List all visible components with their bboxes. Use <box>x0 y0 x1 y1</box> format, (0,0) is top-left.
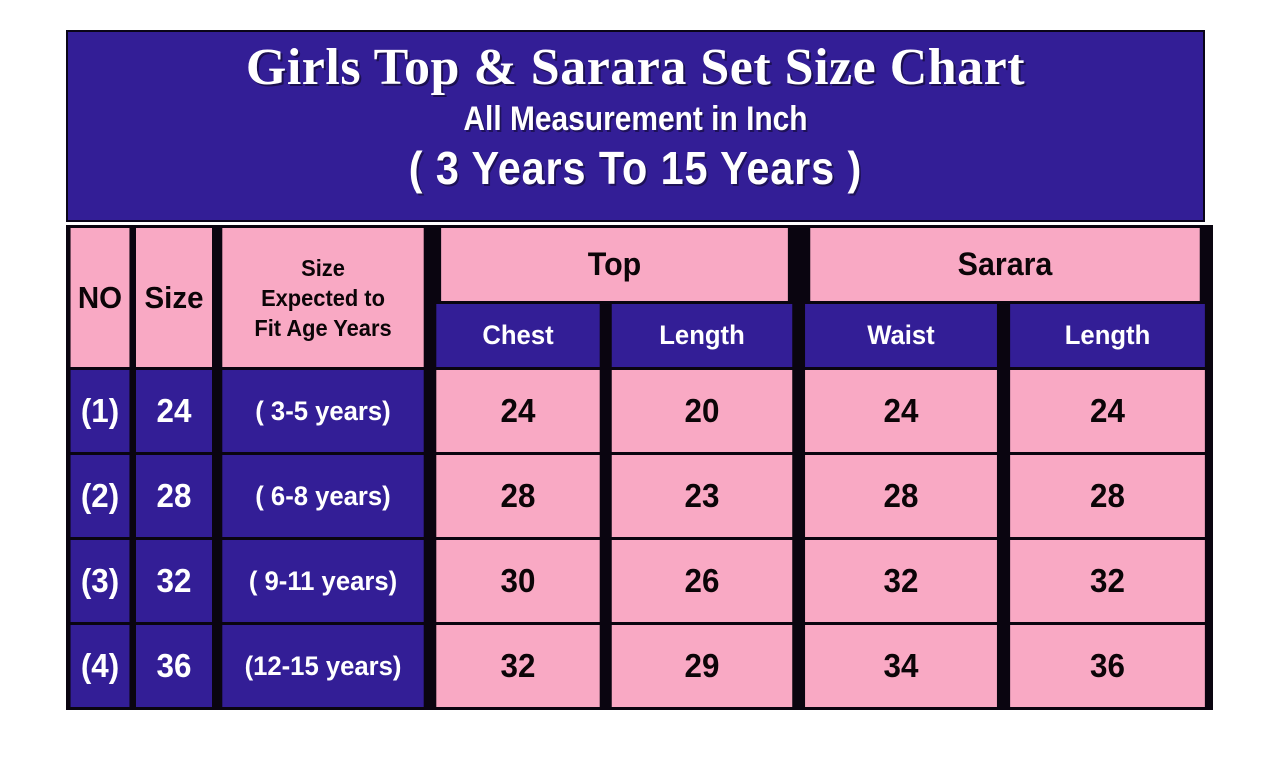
cell-age: ( 6-8 years) <box>222 455 423 537</box>
cell-size: 36 <box>136 625 212 707</box>
header-size: Size <box>136 228 212 367</box>
table-row: (3) 32 ( 9-11 years) 30 26 32 32 <box>69 540 1210 622</box>
cell-sarara-length: 28 <box>1010 455 1205 537</box>
header-age: Size Expected to Fit Age Years <box>222 228 423 367</box>
cell-top-chest: 30 <box>436 540 599 622</box>
cell-top-length: 26 <box>612 540 793 622</box>
header-no: NO <box>71 228 130 367</box>
table-head: NO Size Size Expected to Fit Age Years T… <box>69 228 1210 367</box>
table-row: (2) 28 ( 6-8 years) 28 23 28 28 <box>69 455 1210 537</box>
table-row: (4) 36 (12-15 years) 32 29 34 36 <box>69 625 1210 707</box>
cell-size: 32 <box>136 540 212 622</box>
cell-age: ( 3-5 years) <box>222 370 423 452</box>
header-top-chest: Chest <box>436 304 599 367</box>
cell-size: 24 <box>136 370 212 452</box>
chart-age-range: ( 3 Years To 15 Years ) <box>125 140 1147 196</box>
cell-top-length: 23 <box>612 455 793 537</box>
header-group-sarara: Sarara <box>810 228 1200 301</box>
size-table: NO Size Size Expected to Fit Age Years T… <box>66 225 1213 710</box>
table-header-group-row: NO Size Size Expected to Fit Age Years T… <box>69 228 1210 301</box>
cell-size: 28 <box>136 455 212 537</box>
cell-no: (1) <box>71 370 130 452</box>
header-top-length: Length <box>612 304 793 367</box>
size-chart: Girls Top & Sarara Set Size Chart All Me… <box>66 30 1205 717</box>
cell-sarara-waist: 34 <box>805 625 997 707</box>
cell-top-length: 29 <box>612 625 793 707</box>
cell-top-length: 20 <box>612 370 793 452</box>
cell-age: (12-15 years) <box>222 625 423 707</box>
cell-sarara-waist: 28 <box>805 455 997 537</box>
header-sarara-length: Length <box>1010 304 1205 367</box>
cell-sarara-length: 32 <box>1010 540 1205 622</box>
cell-no: (4) <box>71 625 130 707</box>
cell-age: ( 9-11 years) <box>222 540 423 622</box>
cell-top-chest: 32 <box>436 625 599 707</box>
header-sarara-waist: Waist <box>805 304 997 367</box>
table-body: (1) 24 ( 3-5 years) 24 20 24 24 (2) 28 (… <box>69 370 1210 707</box>
header-age-line1: Size <box>222 253 423 283</box>
cell-sarara-length: 24 <box>1010 370 1205 452</box>
table-row: (1) 24 ( 3-5 years) 24 20 24 24 <box>69 370 1210 452</box>
cell-sarara-waist: 24 <box>805 370 997 452</box>
cell-sarara-waist: 32 <box>805 540 997 622</box>
cell-top-chest: 24 <box>436 370 599 452</box>
chart-title: Girls Top & Sarara Set Size Chart <box>68 38 1203 98</box>
title-banner: Girls Top & Sarara Set Size Chart All Me… <box>66 30 1205 222</box>
chart-subtitle: All Measurement in Inch <box>136 98 1135 140</box>
cell-no: (3) <box>71 540 130 622</box>
cell-sarara-length: 36 <box>1010 625 1205 707</box>
header-group-top: Top <box>441 228 788 301</box>
cell-top-chest: 28 <box>436 455 599 537</box>
cell-no: (2) <box>71 455 130 537</box>
header-age-line3: Fit Age Years <box>222 313 423 343</box>
header-age-line2: Expected to <box>222 283 423 313</box>
